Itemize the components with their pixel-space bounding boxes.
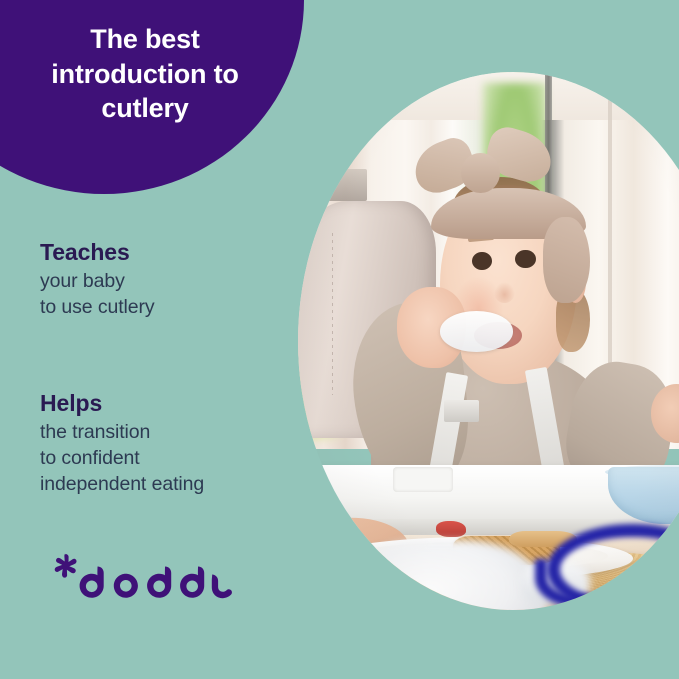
benefit-block-teaches: Teaches your baby to use cutlery (40, 239, 155, 321)
benefit-body-teaches-line2: to use cutlery (40, 295, 155, 321)
hero-photo (298, 72, 679, 610)
benefit-body-helps-line2: to confident (40, 446, 204, 472)
doddl-logo (40, 548, 240, 638)
benefit-body-teaches-line1: your baby (40, 269, 155, 295)
benefit-heading-helps: Helps (40, 390, 204, 416)
benefit-block-helps: Helps the transition to confident indepe… (40, 390, 204, 498)
benefit-body-helps-line1: the transition (40, 420, 204, 446)
benefit-heading-teaches: Teaches (40, 239, 155, 265)
doddl-logo-svg (40, 548, 240, 638)
asterisk-icon (55, 553, 77, 577)
headline-line-1: The best (0, 22, 290, 57)
headline-line-2: introduction to (0, 57, 290, 92)
hero-photo-scene (298, 72, 679, 610)
promo-image-canvas: The best introduction to cutlery Teaches… (0, 0, 679, 679)
headline-text: The best introduction to cutlery (0, 22, 290, 126)
benefit-body-helps-line3: independent eating (40, 472, 204, 498)
doddl-wordmark (80, 567, 232, 599)
photo-vignette (298, 72, 679, 610)
headline-line-3: cutlery (0, 91, 290, 126)
